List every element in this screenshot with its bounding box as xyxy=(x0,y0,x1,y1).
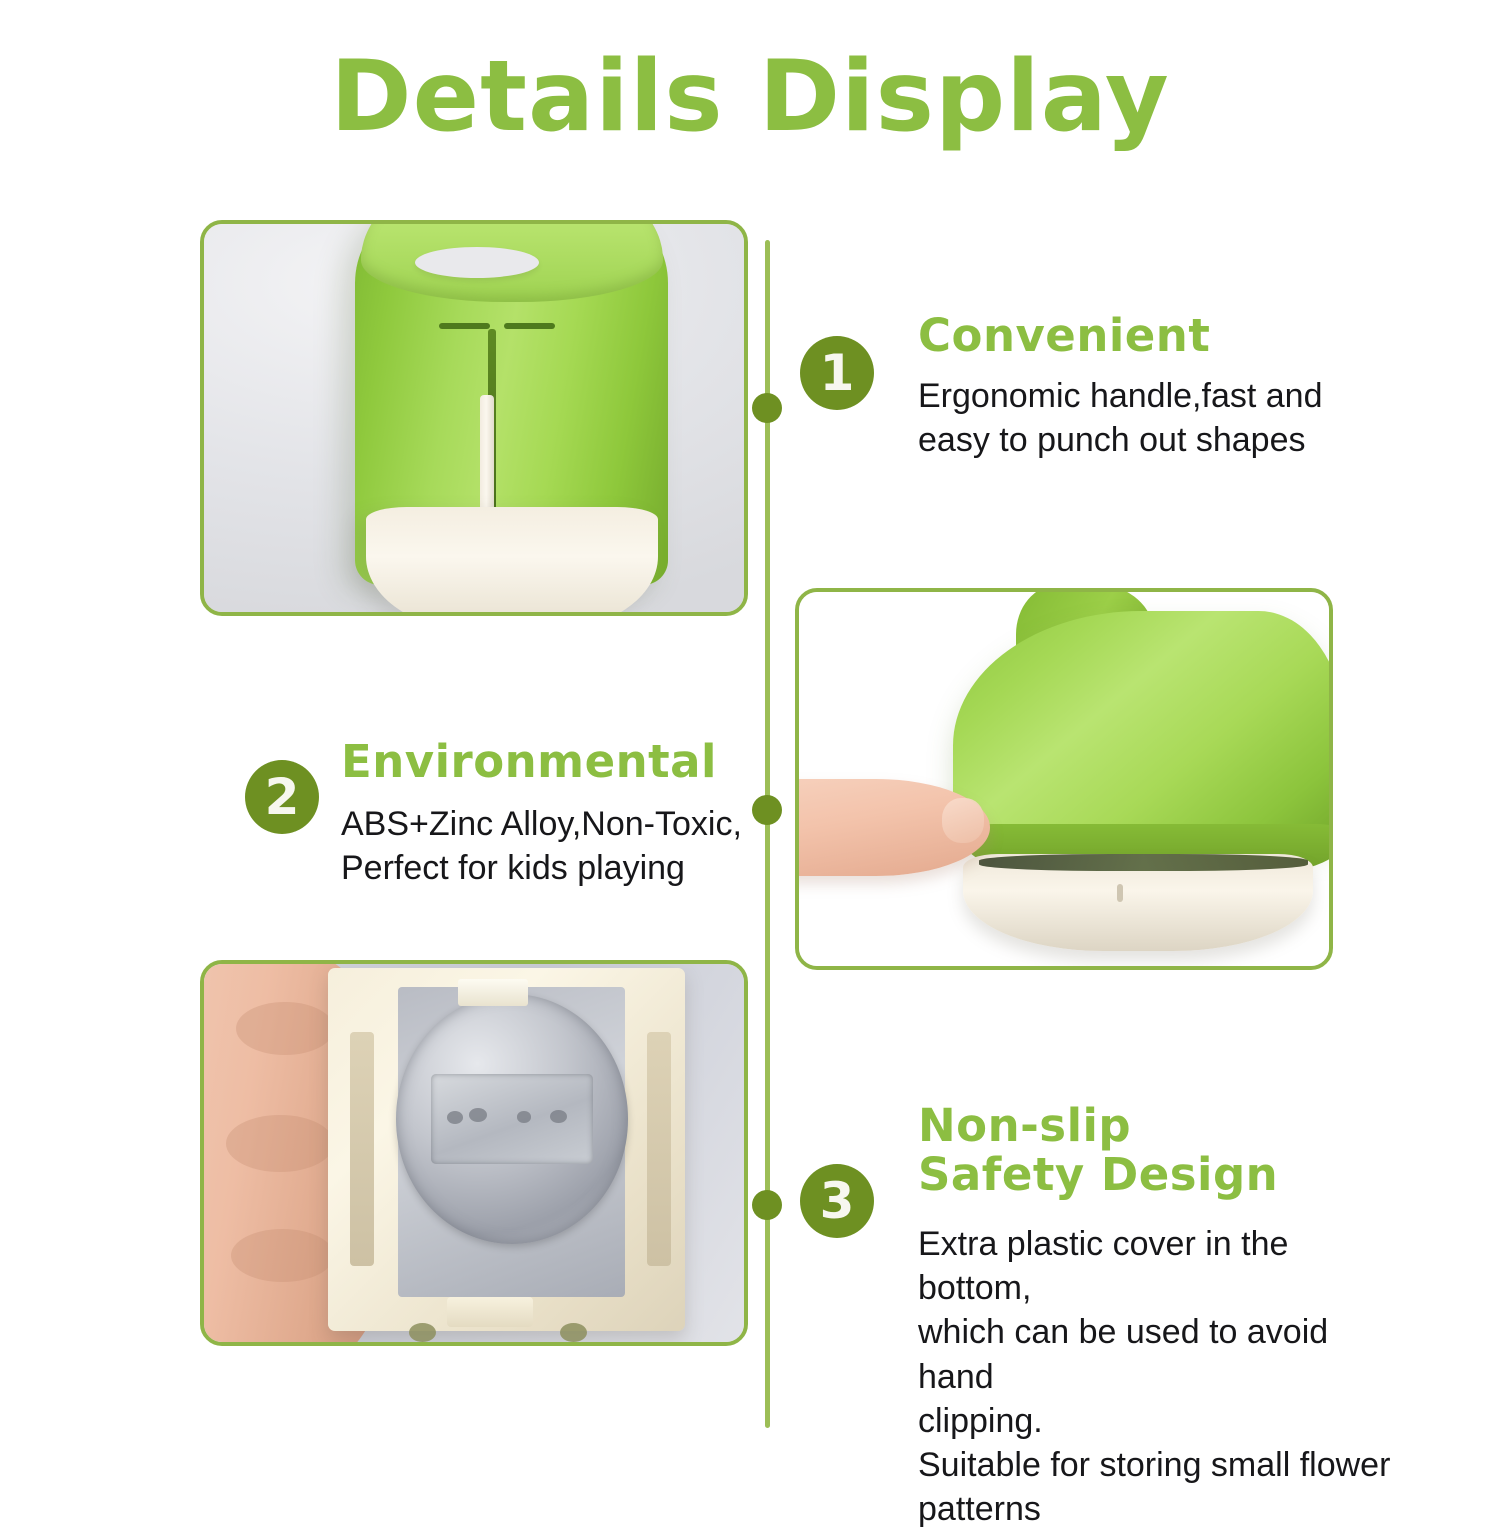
feature-heading-2: Environmental xyxy=(341,738,717,787)
infographic-page: Details Display xyxy=(0,0,1500,1500)
punch-slot-left xyxy=(439,323,490,329)
finger-crease xyxy=(236,1002,333,1055)
die-detail-mark xyxy=(517,1111,531,1122)
finger-crease xyxy=(226,1115,334,1172)
punch-base-tab xyxy=(1117,884,1123,903)
die-detail-mark xyxy=(469,1108,487,1122)
photo-punch-finger-press xyxy=(795,588,1333,970)
feature-body-2: ABS+Zinc Alloy,Non-Toxic, Perfect for ki… xyxy=(341,802,742,890)
punch-bottom-foot xyxy=(447,1297,533,1327)
punch-slot-right xyxy=(504,323,555,329)
punch-top-clip xyxy=(458,979,528,1005)
punch-cream-base xyxy=(366,507,658,616)
feature-heading-3: Non-slip Safety Design xyxy=(918,1102,1278,1199)
finger-crease xyxy=(231,1229,334,1282)
punch-screw-hole xyxy=(409,1323,436,1342)
feature-body-1: Ergonomic handle,fast and easy to punch … xyxy=(918,374,1322,462)
punch-frame-rib xyxy=(350,1032,374,1266)
timeline-dot-2 xyxy=(752,795,782,825)
feature-number-badge-3: 3 xyxy=(800,1164,874,1238)
timeline-dot-1 xyxy=(752,393,782,423)
photo-punch-bottom-die xyxy=(200,960,748,1346)
feature-number-badge-1: 1 xyxy=(800,336,874,410)
feature-number-badge-2: 2 xyxy=(245,760,319,834)
feature-body-3: Extra plastic cover in the bottom, which… xyxy=(918,1222,1400,1531)
die-detail-mark xyxy=(550,1110,567,1124)
punch-shadow-gap xyxy=(979,854,1308,871)
photo-punch-front-view xyxy=(200,220,748,616)
feature-heading-1: Convenient xyxy=(918,312,1210,361)
timeline-dot-3 xyxy=(752,1190,782,1220)
page-title: Details Display xyxy=(0,48,1500,146)
punch-frame-rib xyxy=(647,1032,671,1266)
fingernail xyxy=(942,798,984,843)
